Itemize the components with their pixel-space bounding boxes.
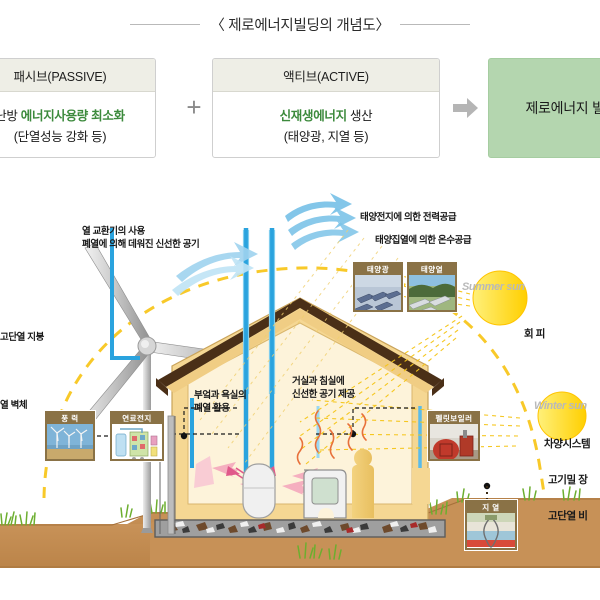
pellet-boiler-caption: 펠릿보일러 <box>430 413 478 424</box>
fuel-cell-card[interactable]: 연료전지 <box>110 411 164 461</box>
solar-pv-photo <box>355 275 401 310</box>
geothermal-card[interactable]: 지 열 <box>465 500 517 550</box>
label-shading-system: 차양시스템 <box>544 438 590 451</box>
label-solar-power: 태양전지에 의한 전력공급 <box>360 212 456 225</box>
person-figure <box>352 449 374 518</box>
label-summer-sun: Summer sun <box>462 281 525 294</box>
solar-thermal-card[interactable]: 태양열 <box>407 262 457 312</box>
passive-box: 패시브(PASSIVE) 난방 에너지사용량 최소화 (단열성능 강화 등) <box>0 58 156 158</box>
wind-power-caption: 풍 력 <box>47 413 93 424</box>
indoor-unit <box>304 470 346 518</box>
building-diagram: 열 교환기의 사용 폐열에 의해 데워진 신선한 공기 태양전지에 의한 전력공… <box>0 168 600 600</box>
geothermal-photo <box>467 513 515 548</box>
active-line-1-highlight: 신재생에너지 <box>280 109 347 123</box>
foundation-slab <box>155 520 445 537</box>
passive-box-header: 패시브(PASSIVE) <box>0 59 155 92</box>
active-line-1: 신재생에너지 생산 <box>280 105 373 124</box>
title-rule-right <box>400 24 470 25</box>
airflow-arrows-out <box>285 193 359 250</box>
diagram-page: 〈 제로에너지빌딩의 개념도〉 패시브(PASSIVE) 난방 에너지사용량 최… <box>0 0 600 600</box>
solar-pv-caption: 태양광 <box>355 264 401 275</box>
label-insulated-wall: 열 벽체 <box>0 400 27 413</box>
label-winter-sun: Winter sun <box>534 400 587 413</box>
result-box: 제로에너지 빌 <box>488 58 600 158</box>
page-title-row: 〈 제로에너지빌딩의 개념도〉 <box>0 12 600 36</box>
label-living-bedroom: 거실과 침실에 신선한 공기 제공 <box>292 376 355 401</box>
passive-line-1-plain: 난방 <box>0 109 21 123</box>
wind-power-photo <box>47 424 93 459</box>
house <box>155 298 445 537</box>
fuel-cell-photo <box>112 424 162 459</box>
arrow-right-icon <box>452 96 480 120</box>
geothermal-caption: 지 열 <box>467 502 515 513</box>
label-solar-hotwater: 태양집열에 의한 온수공급 <box>375 235 471 248</box>
active-box-header: 액티브(ACTIVE) <box>213 59 439 92</box>
utility-pole <box>168 416 174 534</box>
solar-pv-card[interactable]: 태양광 <box>353 262 403 312</box>
pellet-boiler-photo <box>430 424 478 459</box>
concept-flow: 패시브(PASSIVE) 난방 에너지사용량 최소화 (단열성능 강화 등) +… <box>0 58 600 166</box>
active-box: 액티브(ACTIVE) 신재생에너지 생산 (태양광, 지열 등) <box>212 58 440 158</box>
passive-box-body: 난방 에너지사용량 최소화 (단열성능 강화 등) <box>0 92 155 158</box>
active-box-body: 신재생에너지 생산 (태양광, 지열 등) <box>213 92 439 158</box>
plus-operator-icon: + <box>182 96 206 120</box>
passive-line-1-highlight: 에너지사용량 최소화 <box>21 109 125 123</box>
fuel-cell-caption: 연료전지 <box>112 413 162 424</box>
label-kitchen-bath: 부엌과 욕실의 폐열 활용 <box>194 390 246 415</box>
result-box-label: 제로에너지 빌 <box>519 98 600 118</box>
solar-thermal-photo <box>409 275 455 310</box>
label-airtight: 고기밀 장 <box>548 474 588 487</box>
solar-thermal-caption: 태양열 <box>409 264 455 275</box>
summer-sun-icon <box>473 271 527 325</box>
label-high-insulation: 고단열 비 <box>548 510 588 523</box>
active-line-2: (태양광, 지열 등) <box>284 126 368 145</box>
label-heat-exchanger: 열 교환기의 사용 폐열에 의해 데워진 신선한 공기 <box>82 226 199 251</box>
wind-power-card[interactable]: 풍 력 <box>45 411 95 461</box>
label-avoidance: 회 피 <box>524 328 545 341</box>
active-line-1-plain: 생산 <box>347 109 373 123</box>
pellet-boiler-card[interactable]: 펠릿보일러 <box>428 411 480 461</box>
passive-line-2: (단열성능 강화 등) <box>14 126 106 145</box>
page-title: 〈 제로에너지빌딩의 개념도〉 <box>210 14 389 35</box>
label-insulated-roof: 고단열 지붕 <box>0 332 44 345</box>
water-heater <box>243 464 275 518</box>
title-rule-left <box>130 24 200 25</box>
passive-line-1: 난방 에너지사용량 최소화 <box>0 105 125 124</box>
